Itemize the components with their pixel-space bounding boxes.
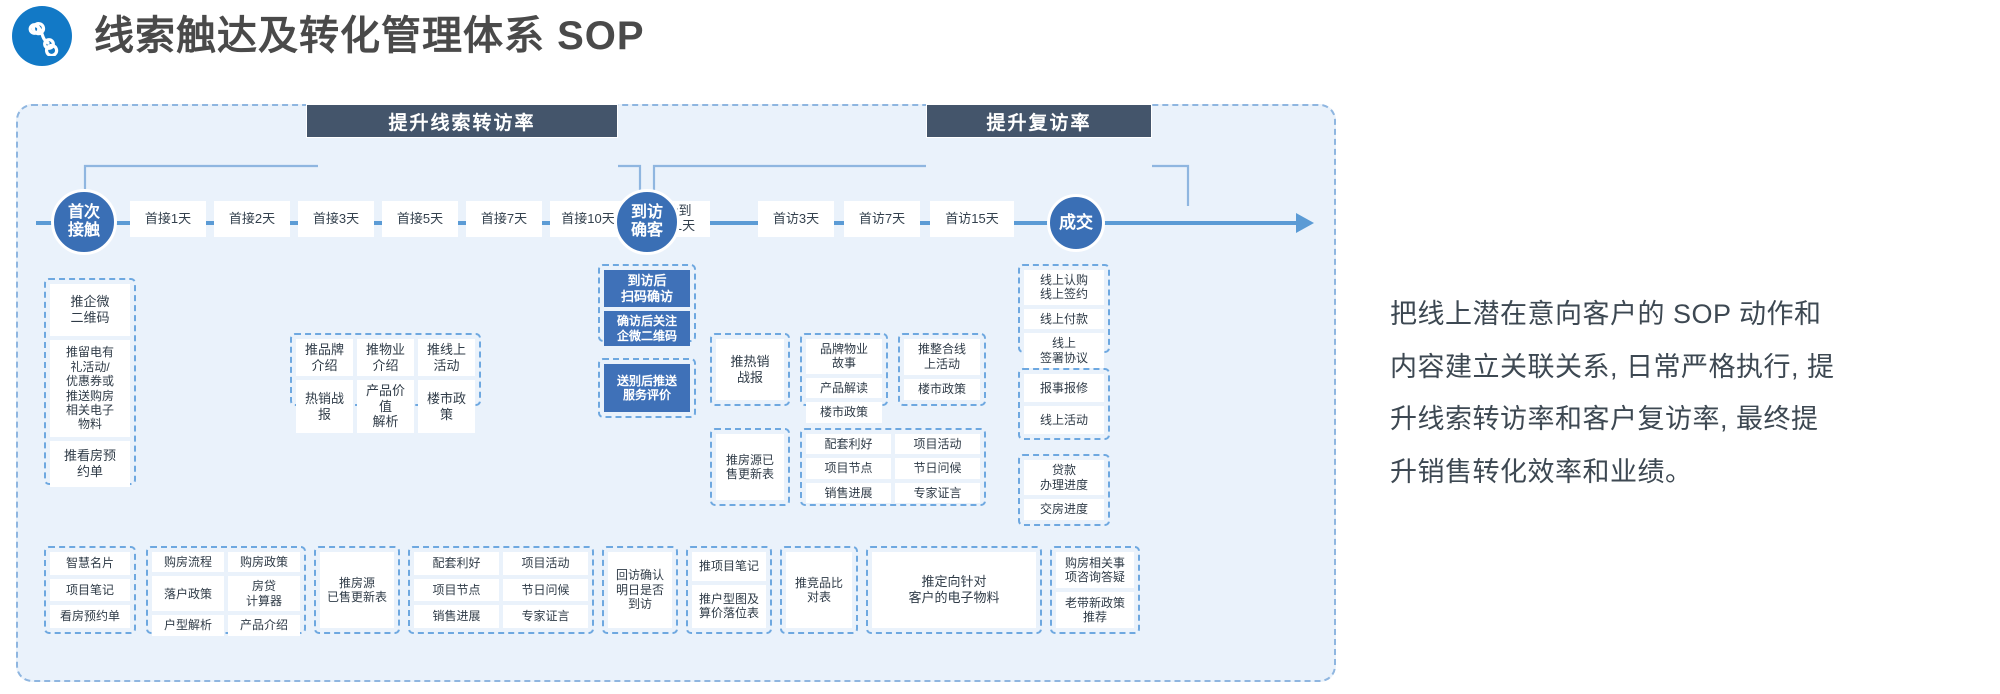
cell-house-source-update-mid[interactable]: 推房源已售更新表 <box>716 434 784 500</box>
group-integrated-online: 推整合线上活动 楼市政策 <box>898 333 986 406</box>
group-brand-story: 品牌物业故事 产品解读 楼市政策 <box>800 333 888 406</box>
link-nodes-icon <box>12 6 72 66</box>
description-line-3: 升线索转访率和客户复访率, 最终提 <box>1390 393 1970 446</box>
group-visit-confirm-actions: 到访后扫码确访 确访后关注企微二维码 <box>598 264 696 342</box>
cell-competitor-compare[interactable]: 推竞品比对表 <box>786 552 852 628</box>
group-bottom-notes: 推项目笔记 推户型图及算价落位表 <box>686 546 772 634</box>
cell-buying-policy[interactable]: 购房政策 <box>228 552 300 572</box>
cell-push-project-notes[interactable]: 推项目笔记 <box>692 552 766 581</box>
node-label: 成交 <box>1059 213 1093 232</box>
group-farewell-actions: 送别后推送服务评价 <box>598 358 696 418</box>
description-line-2: 内容建立关联关系, 日常严格执行, 提 <box>1390 341 1970 394</box>
diagram-panel: 提升线索转访率 提升复访率 首次接触 到访确客 成交 首接1天 首接2天 首接3… <box>16 104 1336 682</box>
cell-product-value[interactable]: 产品价值解析 <box>357 380 414 433</box>
cell-visit-booking-form[interactable]: 看房预约单 <box>50 605 130 628</box>
cell-online-agreement[interactable]: 线上签署协议 <box>1024 333 1104 368</box>
tick-d7: 首接7天 <box>466 201 542 237</box>
tick-d5: 首接5天 <box>382 201 458 237</box>
group-bottom-smart-card: 智慧名片 项目笔记 看房预约单 <box>44 546 136 634</box>
cell-holiday-greeting[interactable]: 节日问候 <box>895 458 980 478</box>
tick-d3: 首接3天 <box>298 201 374 237</box>
cell-market-policy-2[interactable]: 楼市政策 <box>806 402 882 422</box>
group-bottom-benefits: 配套利好 项目活动 项目节点 节日问候 销售进展 专家证言 <box>408 546 594 634</box>
tick-v15: 首访15天 <box>930 201 1014 237</box>
banner-improve-lead-visit-rate: 提升线索转访率 <box>306 104 618 138</box>
timeline-node-visit-confirm[interactable]: 到访确客 <box>614 189 680 255</box>
sop-diagram-page: 线索触达及转化管理体系 SOP 提升线索转访率 提升复访率 首次接触 到访确客 … <box>0 0 2000 694</box>
cell-project-milestone[interactable]: 项目节点 <box>806 458 891 478</box>
cell-layout-analysis[interactable]: 户型解析 <box>152 615 224 635</box>
timeline-arrow-icon <box>1296 213 1314 233</box>
tick-v7: 首访7天 <box>844 201 920 237</box>
cell-facility-benefit[interactable]: 配套利好 <box>806 434 891 454</box>
group-after-sale-service: 报事报修 线上活动 <box>1018 368 1110 440</box>
cell-push-layout-price[interactable]: 推户型图及算价落位表 <box>692 585 766 628</box>
cell-visit-booking[interactable]: 推看房预约单 <box>50 441 130 487</box>
group-hot-sale: 推热销战报 <box>710 333 790 406</box>
group-bottom-house-update: 推房源已售更新表 <box>314 546 400 634</box>
cell-smart-business-card[interactable]: 智慧名片 <box>50 552 130 575</box>
cell-follow-wechat-qr[interactable]: 确访后关注企微二维码 <box>604 311 690 346</box>
cell-brand-intro[interactable]: 推品牌介绍 <box>296 339 353 376</box>
group-online-deal: 线上认购线上签约 线上付款 线上签署协议 <box>1018 264 1110 353</box>
cell-revisit-confirm[interactable]: 回访确认明日是否到访 <box>608 552 672 628</box>
cell-online-activity[interactable]: 推线上活动 <box>418 339 475 376</box>
cell-expert-testimony-b[interactable]: 专家证言 <box>503 605 588 628</box>
cell-scan-confirm-visit[interactable]: 到访后扫码确访 <box>604 270 690 307</box>
node-label: 首次接触 <box>68 204 100 240</box>
group-bottom-revisit-confirm: 回访确认明日是否到访 <box>602 546 678 634</box>
group-bottom-policy-qa: 购房相关事项咨询答疑 老带新政策推荐 <box>1050 546 1140 634</box>
group-content-push: 推品牌介绍 推物业介绍 推线上活动 热销战报 产品价值解析 楼市政策 <box>290 333 481 406</box>
cell-house-source-update-bottom[interactable]: 推房源已售更新表 <box>320 552 394 628</box>
cell-loan-progress[interactable]: 贷款办理进度 <box>1024 460 1104 495</box>
cell-project-event[interactable]: 项目活动 <box>895 434 980 454</box>
cell-product-intro[interactable]: 产品介绍 <box>228 615 300 635</box>
group-bottom-compare: 推竞品比对表 <box>780 546 858 634</box>
cell-holiday-greeting-b[interactable]: 节日问候 <box>503 579 588 602</box>
cell-project-milestone-b[interactable]: 项目节点 <box>414 579 499 602</box>
group-bottom-targeted: 推定向针对客户的电子物料 <box>866 546 1042 634</box>
group-house-update-mid: 推房源已售更新表 <box>710 428 790 506</box>
page-header: 线索触达及转化管理体系 SOP <box>12 6 645 66</box>
group-project-benefits: 配套利好 项目活动 项目节点 节日问候 销售进展 专家证言 <box>800 428 986 506</box>
cell-mortgage-calculator[interactable]: 房贷计算器 <box>228 576 300 611</box>
cell-product-reading[interactable]: 产品解读 <box>806 378 882 398</box>
group-progress-tracking: 贷款办理进度 交房进度 <box>1018 454 1110 526</box>
cell-integrated-online-activity[interactable]: 推整合线上活动 <box>904 339 980 375</box>
cell-project-event-b[interactable]: 项目活动 <box>503 552 588 575</box>
cell-online-subscribe-sign[interactable]: 线上认购线上签约 <box>1024 270 1104 305</box>
cell-facility-benefit-b[interactable]: 配套利好 <box>414 552 499 575</box>
page-title: 线索触达及转化管理体系 SOP <box>94 16 645 56</box>
description-text: 把线上潜在意向客户的 SOP 动作和 内容建立关联关系, 日常严格执行, 提 升… <box>1390 288 1970 499</box>
cell-leave-phone-gift[interactable]: 推留电有礼活动/优惠券或推送购房相关电子物料 <box>50 340 130 437</box>
cell-repair-report[interactable]: 报事报修 <box>1024 374 1104 402</box>
cell-expert-testimony[interactable]: 专家证言 <box>895 483 980 503</box>
cell-sales-progress-b[interactable]: 销售进展 <box>414 605 499 628</box>
tick-v3: 首访3天 <box>758 201 834 237</box>
cell-online-payment[interactable]: 线上付款 <box>1024 309 1104 329</box>
node-label: 到访确客 <box>631 204 663 240</box>
description-line-4: 升销售转化效率和业绩。 <box>1390 446 1970 499</box>
cell-market-policy-3[interactable]: 楼市政策 <box>904 379 980 400</box>
cell-wechat-qr[interactable]: 推企微二维码 <box>50 284 130 336</box>
banner-improve-revisit-rate: 提升复访率 <box>926 104 1152 138</box>
description-line-1: 把线上潜在意向客户的 SOP 动作和 <box>1390 288 1970 341</box>
cell-buying-qa[interactable]: 购房相关事项咨询答疑 <box>1056 552 1134 588</box>
cell-brand-property-story[interactable]: 品牌物业故事 <box>806 339 882 374</box>
tick-d2: 首接2天 <box>214 201 290 237</box>
timeline-node-deal[interactable]: 成交 <box>1047 194 1105 252</box>
cell-targeted-materials[interactable]: 推定向针对客户的电子物料 <box>872 552 1036 628</box>
cell-hot-sale-report[interactable]: 热销战报 <box>296 380 353 433</box>
cell-buying-process[interactable]: 购房流程 <box>152 552 224 572</box>
group-first-contact-actions: 推企微二维码 推留电有礼活动/优惠券或推送购房相关电子物料 推看房预约单 <box>44 278 136 485</box>
cell-online-event[interactable]: 线上活动 <box>1024 406 1104 434</box>
cell-project-notes[interactable]: 项目笔记 <box>50 579 130 602</box>
cell-sales-progress[interactable]: 销售进展 <box>806 483 891 503</box>
cell-household-policy[interactable]: 落户政策 <box>152 576 224 611</box>
tick-d1: 首接1天 <box>130 201 206 237</box>
cell-referral-policy[interactable]: 老带新政策推荐 <box>1056 592 1134 628</box>
group-bottom-buying-flow: 购房流程 购房政策 落户政策 房贷计算器 户型解析 产品介绍 <box>146 546 306 634</box>
cell-delivery-progress[interactable]: 交房进度 <box>1024 499 1104 520</box>
logo-glyph <box>22 16 62 56</box>
cell-market-policy[interactable]: 楼市政策 <box>418 380 475 433</box>
cell-service-review[interactable]: 送别后推送服务评价 <box>604 364 690 412</box>
cell-push-hot-sale[interactable]: 推热销战报 <box>716 339 784 400</box>
cell-property-intro[interactable]: 推物业介绍 <box>357 339 414 376</box>
timeline-node-first-contact[interactable]: 首次接触 <box>51 189 117 255</box>
